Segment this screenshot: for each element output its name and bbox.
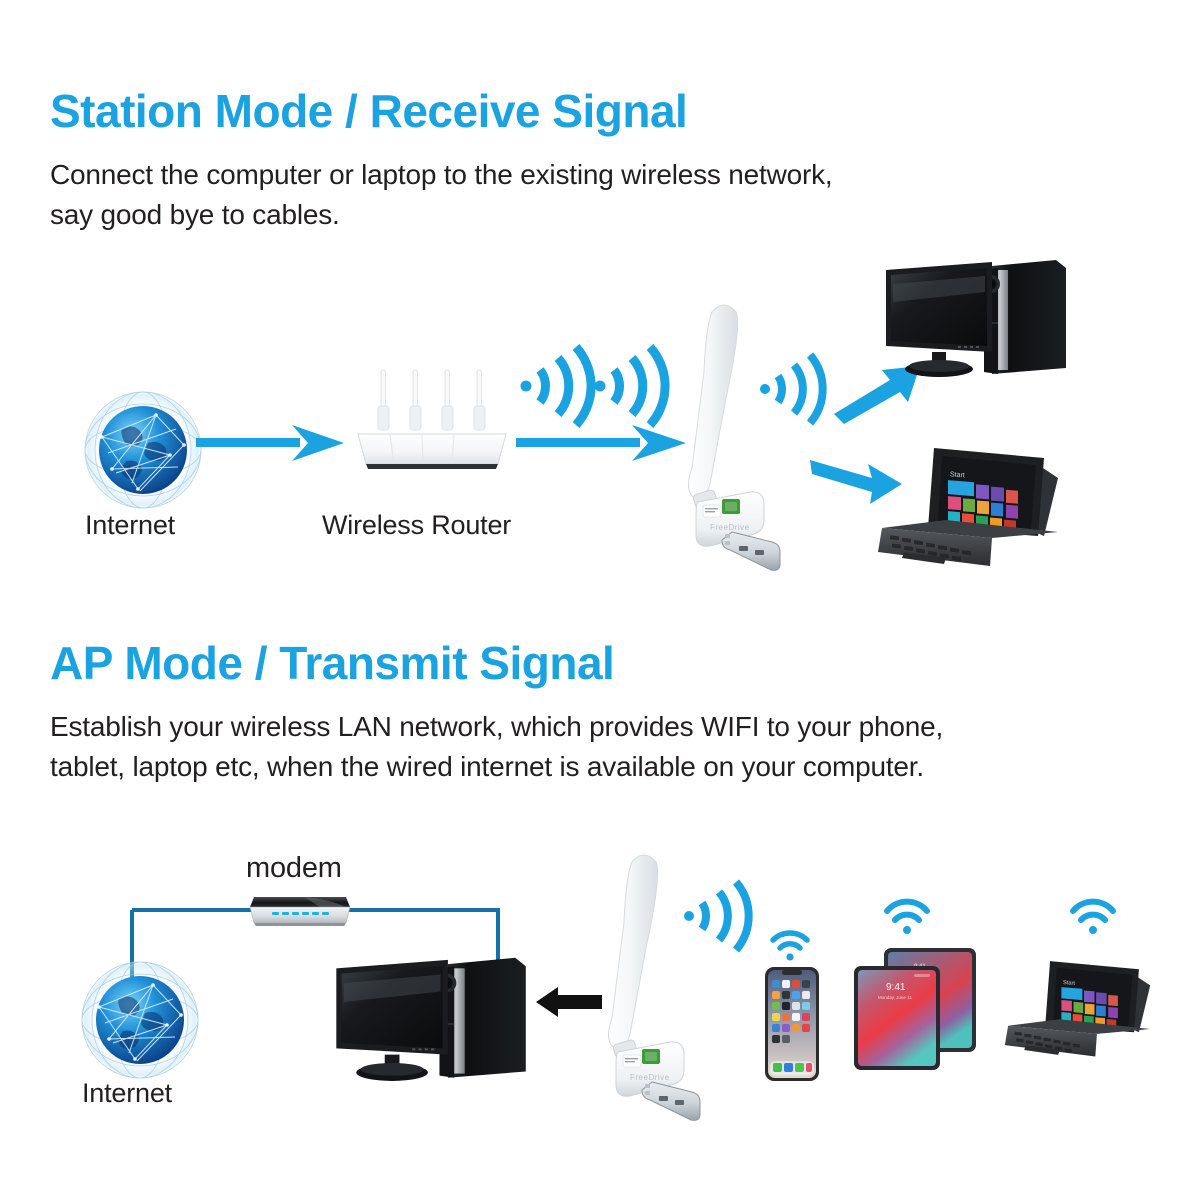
desktop-computer-icon [880, 256, 1070, 386]
infographic-canvas: Station Mode / Receive Signal Connect th… [0, 0, 1200, 1200]
smartphone-icon [764, 966, 820, 1082]
svg-text:FreeDrive: FreeDrive [710, 523, 750, 532]
svg-text:Start: Start [1063, 980, 1075, 987]
wifi-arcs-router-1 [518, 342, 596, 430]
wifi-icon-tablet [882, 898, 932, 936]
laptop-tablet-icon: Start [872, 432, 1132, 580]
svg-text:Start: Start [950, 471, 965, 479]
internet-label: Internet [85, 510, 175, 541]
wifi-icon-smartphone [768, 928, 812, 962]
wireless-router-label: Wireless Router [322, 510, 511, 541]
ap-mode-body-line-2: tablet, laptop etc, when the wired inter… [50, 747, 924, 787]
svg-text:Monday, June 11: Monday, June 11 [878, 995, 912, 1000]
station-mode-body-line-2: say good bye to cables. [50, 195, 340, 235]
wifi-arcs-router-2 [592, 342, 670, 430]
internet-globe-icon [78, 385, 208, 515]
internet-globe-icon [75, 955, 205, 1085]
modem-label: modem [246, 852, 342, 885]
laptop-tablet-icon: Start [1000, 928, 1200, 1088]
wifi-arcs-adapter [682, 876, 758, 956]
router-icon [352, 368, 512, 478]
modem-icon [248, 893, 352, 927]
arrow-router-to-adapter [516, 425, 686, 461]
arrow-adapter-to-desktop [536, 985, 602, 1019]
arrow-internet-to-router [196, 425, 344, 461]
desktop-computer-icon [330, 952, 530, 1092]
station-mode-heading: Station Mode / Receive Signal [50, 88, 687, 134]
wifi-arcs-adapter [758, 350, 828, 428]
internet-label: Internet [82, 1078, 172, 1109]
ap-mode-body-line-1: Establish your wireless LAN network, whi… [50, 707, 943, 747]
svg-text:9:41: 9:41 [886, 982, 906, 993]
station-mode-body-line-1: Connect the computer or laptop to the ex… [50, 155, 833, 195]
tablet-icon: 9:41 9:41 Monday, June 11 [852, 946, 978, 1074]
ap-mode-heading: AP Mode / Transmit Signal [50, 640, 614, 686]
svg-text:FreeDrive: FreeDrive [630, 1073, 670, 1082]
